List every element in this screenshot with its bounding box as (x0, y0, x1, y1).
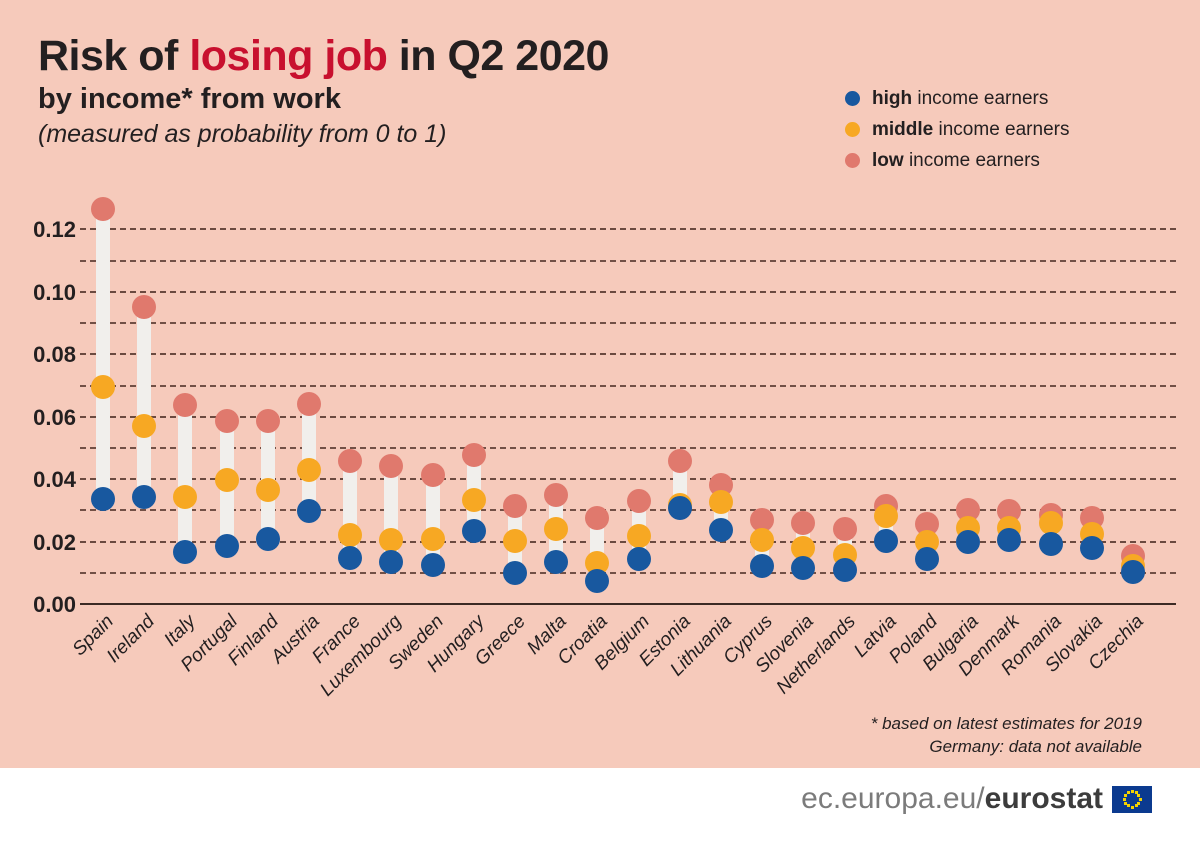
data-point-mid[interactable] (215, 468, 239, 492)
eu-flag-star (1123, 798, 1126, 801)
title-part-a: Risk of (38, 32, 189, 80)
eu-flag-star (1137, 794, 1140, 797)
gridline-minor (80, 260, 1176, 262)
data-point-low[interactable] (627, 489, 651, 513)
data-point-high[interactable] (874, 529, 898, 553)
footnote-line-2: Germany: data not available (871, 736, 1142, 759)
range-bar (96, 209, 110, 499)
data-point-low[interactable] (833, 517, 857, 541)
data-point-high[interactable] (750, 554, 774, 578)
y-axis-tick-label: 0.00 (0, 592, 76, 618)
eurostat-brand[interactable]: ec.europa.eu/eurostat (801, 782, 1152, 816)
data-point-high[interactable] (132, 485, 156, 509)
gridline-minor (80, 385, 1176, 387)
data-point-low[interactable] (421, 463, 445, 487)
footer-bar: ec.europa.eu/eurostat (0, 768, 1200, 849)
data-point-high[interactable] (997, 528, 1021, 552)
data-point-mid[interactable] (709, 490, 733, 514)
data-point-mid[interactable] (132, 414, 156, 438)
data-point-low[interactable] (256, 409, 280, 433)
y-axis-tick-label: 0.12 (0, 217, 76, 243)
range-bar (426, 475, 440, 565)
eu-flag-icon (1112, 786, 1152, 813)
eu-flag-star (1139, 798, 1142, 801)
data-point-mid[interactable] (173, 485, 197, 509)
data-point-high[interactable] (215, 534, 239, 558)
data-point-low[interactable] (462, 443, 486, 467)
y-axis-tick-label: 0.06 (0, 405, 76, 431)
data-point-low[interactable] (379, 454, 403, 478)
data-point-high[interactable] (503, 561, 527, 585)
data-point-low[interactable] (503, 494, 527, 518)
data-point-low[interactable] (585, 506, 609, 530)
title-highlight: losing job (189, 32, 387, 80)
data-point-high[interactable] (91, 487, 115, 511)
data-point-low[interactable] (91, 197, 115, 221)
data-point-low[interactable] (338, 449, 362, 473)
gridline-minor (80, 572, 1176, 574)
data-point-high[interactable] (833, 558, 857, 582)
legend-label-high: high income earners (872, 88, 1048, 110)
data-point-high[interactable] (668, 496, 692, 520)
data-point-high[interactable] (421, 553, 445, 577)
legend-item-high: high income earners (845, 83, 1069, 114)
eu-flag-star (1135, 804, 1138, 807)
data-point-mid[interactable] (874, 504, 898, 528)
data-point-low[interactable] (791, 511, 815, 535)
gridline-major (80, 416, 1176, 418)
data-point-high[interactable] (585, 569, 609, 593)
footnote-line-1: * based on latest estimates for 2019 (871, 713, 1142, 736)
data-point-low[interactable] (132, 295, 156, 319)
gridline-major (80, 478, 1176, 480)
data-point-high[interactable] (256, 527, 280, 551)
data-point-high[interactable] (462, 519, 486, 543)
data-point-low[interactable] (668, 449, 692, 473)
legend-label-low-strong: low (872, 150, 904, 171)
data-point-mid[interactable] (627, 524, 651, 548)
page-title: Risk of losing job in Q2 2020 (38, 34, 818, 80)
data-point-mid[interactable] (544, 517, 568, 541)
data-point-low[interactable] (215, 409, 239, 433)
y-axis-tick-label: 0.02 (0, 530, 76, 556)
data-point-mid[interactable] (297, 458, 321, 482)
eu-flag-star (1124, 794, 1127, 797)
brand-url-light: ec.europa.eu/ (801, 782, 984, 816)
legend-dot-high-icon (845, 91, 860, 106)
eu-flag-star (1131, 806, 1134, 809)
gridline-major (80, 353, 1176, 355)
gridline-major (80, 291, 1176, 293)
data-point-high[interactable] (915, 547, 939, 571)
gridline-minor (80, 447, 1176, 449)
data-point-high[interactable] (627, 547, 651, 571)
range-bar (137, 307, 151, 497)
legend-item-middle: middle income earners (845, 114, 1069, 145)
data-point-low[interactable] (297, 392, 321, 416)
legend-label-middle-strong: middle (872, 119, 933, 140)
data-point-mid[interactable] (379, 528, 403, 552)
data-point-mid[interactable] (750, 528, 774, 552)
data-point-high[interactable] (1039, 532, 1063, 556)
y-axis-tick-label: 0.04 (0, 467, 76, 493)
page-subtitle: by income* from work (38, 82, 818, 116)
data-point-high[interactable] (379, 550, 403, 574)
data-point-mid[interactable] (421, 527, 445, 551)
eu-flag-star (1131, 790, 1134, 793)
eu-flag-star (1124, 802, 1127, 805)
page-subnote: (measured as probability from 0 to 1) (38, 119, 818, 149)
x-axis-line (80, 603, 1176, 605)
legend-dot-low-icon (845, 153, 860, 168)
data-point-high[interactable] (1121, 560, 1145, 584)
legend-label-high-strong: high (872, 88, 912, 109)
legend-label-low: low income earners (872, 150, 1040, 172)
gridline-minor (80, 322, 1176, 324)
legend-dot-middle-icon (845, 122, 860, 137)
data-point-low[interactable] (173, 393, 197, 417)
footnote: * based on latest estimates for 2019 Ger… (871, 713, 1142, 759)
data-point-high[interactable] (956, 530, 980, 554)
data-point-high[interactable] (791, 556, 815, 580)
data-point-mid[interactable] (256, 478, 280, 502)
data-point-low[interactable] (544, 483, 568, 507)
data-point-high[interactable] (544, 550, 568, 574)
legend-item-low: low income earners (845, 145, 1069, 176)
eu-flag-star (1137, 802, 1140, 805)
legend-label-middle: middle income earners (872, 119, 1069, 141)
data-point-mid[interactable] (91, 375, 115, 399)
data-point-high[interactable] (1080, 536, 1104, 560)
title-block: Risk of losing job in Q2 2020 by income*… (38, 34, 818, 149)
data-point-high[interactable] (338, 546, 362, 570)
data-point-high[interactable] (297, 499, 321, 523)
plot-area: 0.000.020.040.060.080.100.12SpainIreland… (80, 193, 1180, 605)
y-axis-tick-label: 0.10 (0, 280, 76, 306)
brand-url-bold: eurostat (985, 782, 1103, 816)
y-axis-tick-label: 0.08 (0, 342, 76, 368)
data-point-high[interactable] (173, 540, 197, 564)
eu-flag-star (1127, 791, 1130, 794)
chart-legend: high income earnersmiddle income earners… (845, 83, 1069, 176)
gridline-major (80, 228, 1176, 230)
data-point-mid[interactable] (338, 523, 362, 547)
title-part-b: in Q2 2020 (387, 32, 609, 80)
data-point-high[interactable] (709, 518, 733, 542)
eu-flag-star (1127, 804, 1130, 807)
chart-canvas: Risk of losing job in Q2 2020 by income*… (0, 0, 1200, 768)
infographic-page: Risk of losing job in Q2 2020 by income*… (0, 0, 1200, 849)
range-bar (178, 405, 192, 552)
data-point-mid[interactable] (503, 529, 527, 553)
